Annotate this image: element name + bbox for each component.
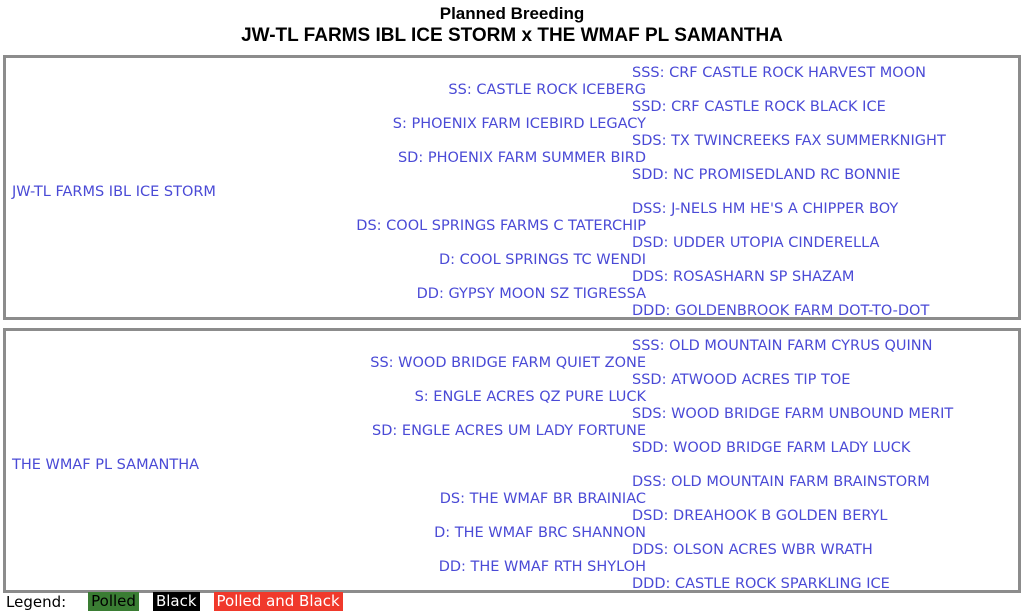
dam-subject[interactable]: THE WMAF PL SAMANTHA (12, 457, 199, 474)
sire-gen3-dd[interactable]: DD: GYPSY MOON SZ TIGRESSA (417, 286, 646, 303)
legend-chip-black: Black (153, 592, 200, 611)
sire-pedigree-table: JW-TL FARMS IBL ICE STORM S: PHOENIX FAR… (3, 55, 1021, 320)
dam-pedigree-table: THE WMAF PL SAMANTHA S: ENGLE ACRES QZ P… (3, 328, 1021, 593)
sire-pedigree-grid: JW-TL FARMS IBL ICE STORM S: PHOENIX FAR… (6, 58, 1018, 317)
sire-gen4-sds[interactable]: SDS: TX TWINCREEKS FAX SUMMERKNIGHT (632, 133, 946, 150)
dam-gen4-sss[interactable]: SSS: OLD MOUNTAIN FARM CYRUS QUINN (632, 338, 933, 355)
sire-gen4-ddd[interactable]: DDD: GOLDENBROOK FARM DOT-TO-DOT (632, 303, 929, 320)
sire-gen4-dsd[interactable]: DSD: UDDER UTOPIA CINDERELLA (632, 235, 879, 252)
page-title: Planned Breeding JW-TL FARMS IBL ICE STO… (0, 0, 1024, 48)
dam-gen2-s[interactable]: S: ENGLE ACRES QZ PURE LUCK (415, 389, 646, 406)
legend-chip-polled-and-black: Polled and Black (214, 592, 343, 611)
page-title-line-2: JW-TL FARMS IBL ICE STORM x THE WMAF PL … (0, 24, 1024, 48)
sire-gen4-sss[interactable]: SSS: CRF CASTLE ROCK HARVEST MOON (632, 65, 926, 82)
sire-gen4-ssd[interactable]: SSD: CRF CASTLE ROCK BLACK ICE (632, 99, 886, 116)
dam-gen3-ss[interactable]: SS: WOOD BRIDGE FARM QUIET ZONE (370, 355, 646, 372)
sire-gen2-d[interactable]: D: COOL SPRINGS TC WENDI (439, 252, 646, 269)
page-title-line-1: Planned Breeding (0, 3, 1024, 24)
dam-gen4-sds[interactable]: SDS: WOOD BRIDGE FARM UNBOUND MERIT (632, 406, 953, 423)
dam-gen2-d[interactable]: D: THE WMAF BRC SHANNON (434, 525, 646, 542)
pedigree-page: Planned Breeding JW-TL FARMS IBL ICE STO… (0, 0, 1024, 613)
dam-gen4-ddd[interactable]: DDD: CASTLE ROCK SPARKLING ICE (632, 576, 890, 593)
sire-gen4-dss[interactable]: DSS: J-NELS HM HE'S A CHIPPER BOY (632, 201, 898, 218)
dam-gen4-dsd[interactable]: DSD: DREAHOOK B GOLDEN BERYL (632, 508, 887, 525)
dam-gen4-dds[interactable]: DDS: OLSON ACRES WBR WRATH (632, 542, 873, 559)
legend-chip-polled: Polled (88, 592, 139, 611)
sire-gen4-dds[interactable]: DDS: ROSASHARN SP SHAZAM (632, 269, 854, 286)
dam-pedigree-grid: THE WMAF PL SAMANTHA S: ENGLE ACRES QZ P… (6, 331, 1018, 590)
dam-gen4-ssd[interactable]: SSD: ATWOOD ACRES TIP TOE (632, 372, 850, 389)
dam-gen3-sd[interactable]: SD: ENGLE ACRES UM LADY FORTUNE (372, 423, 646, 440)
dam-gen4-dss[interactable]: DSS: OLD MOUNTAIN FARM BRAINSTORM (632, 474, 930, 491)
sire-gen2-s[interactable]: S: PHOENIX FARM ICEBIRD LEGACY (393, 116, 646, 133)
dam-gen4-sdd[interactable]: SDD: WOOD BRIDGE FARM LADY LUCK (632, 440, 910, 457)
legend: Legend: Polled Black Polled and Black (0, 592, 1024, 611)
sire-gen3-ss[interactable]: SS: CASTLE ROCK ICEBERG (448, 82, 646, 99)
dam-gen3-ds[interactable]: DS: THE WMAF BR BRAINIAC (440, 491, 646, 508)
dam-gen3-dd[interactable]: DD: THE WMAF RTH SHYLOH (439, 559, 646, 576)
sire-gen3-ds[interactable]: DS: COOL SPRINGS FARMS C TATERCHIP (356, 218, 646, 235)
legend-label: Legend: (6, 593, 66, 611)
sire-gen3-sd[interactable]: SD: PHOENIX FARM SUMMER BIRD (398, 150, 646, 167)
sire-gen4-sdd[interactable]: SDD: NC PROMISEDLAND RC BONNIE (632, 167, 900, 184)
sire-subject[interactable]: JW-TL FARMS IBL ICE STORM (12, 184, 216, 201)
